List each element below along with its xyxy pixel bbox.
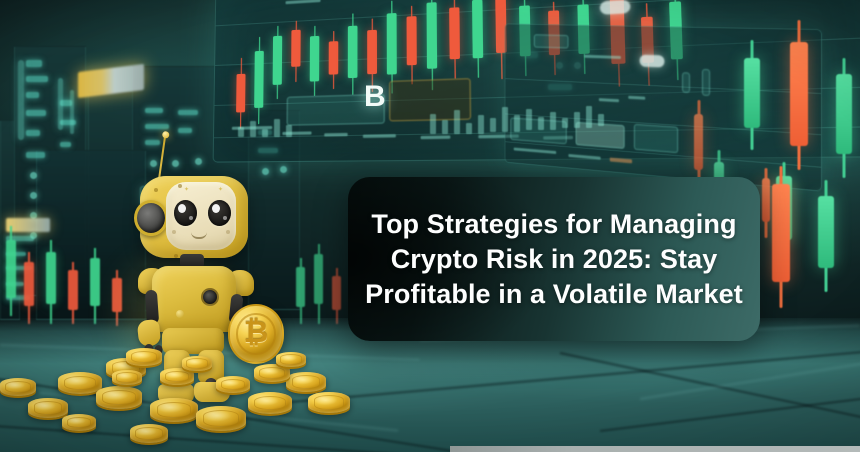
gold-coin xyxy=(216,376,250,393)
gold-coin xyxy=(112,370,142,385)
gold-coin xyxy=(126,348,162,366)
gold-coin xyxy=(0,378,36,396)
gold-coin xyxy=(96,386,142,409)
bottom-ui-strip xyxy=(450,446,860,452)
gold-coin xyxy=(254,364,290,382)
gold-coin xyxy=(182,356,212,371)
gold-coin xyxy=(150,398,198,422)
gold-coin xyxy=(28,398,68,418)
gold-coin xyxy=(276,352,306,367)
gold-coin xyxy=(286,372,326,392)
gold-coin xyxy=(58,372,102,394)
gold-coin xyxy=(130,424,168,443)
crypto-blog-hero-banner: B xyxy=(0,0,860,452)
gold-coin xyxy=(308,392,350,413)
gold-coin xyxy=(160,368,194,385)
gold-coin xyxy=(196,406,246,431)
page-title: Top Strategies for Managing Crypto Risk … xyxy=(348,207,760,312)
gold-coin xyxy=(248,392,292,414)
gold-coin xyxy=(62,414,96,431)
title-panel: Top Strategies for Managing Crypto Risk … xyxy=(348,177,760,341)
